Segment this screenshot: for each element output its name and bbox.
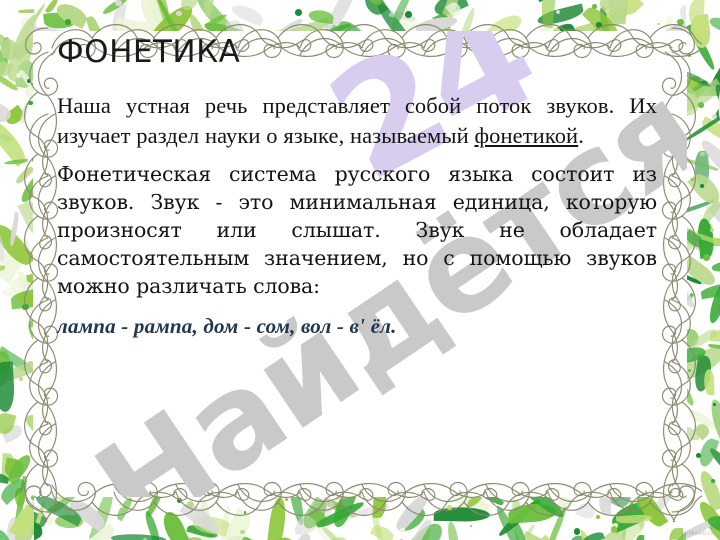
leaf-dot <box>295 9 302 16</box>
leaf-shape <box>689 14 712 49</box>
leaf-border-left <box>0 0 34 540</box>
leaf-shape <box>686 381 696 406</box>
leaf-dot <box>470 525 472 527</box>
paragraph-definition-after: . <box>578 123 584 148</box>
paragraph-definition: Наша устная речь представляет собой пото… <box>57 91 657 150</box>
leaf-shape <box>372 496 387 518</box>
leaf-dot <box>710 228 714 232</box>
leaf-dot <box>677 19 684 26</box>
leaf-dot <box>447 505 452 510</box>
examples-line: лампа - рампа, дом - сом, вол - в' ёл. <box>57 313 657 340</box>
leaf-dot <box>574 528 580 534</box>
leaf-dot <box>115 0 121 6</box>
leaf-dot <box>65 19 71 25</box>
leaf-shape <box>19 103 30 125</box>
leaf-dot <box>400 528 405 533</box>
leaf-border-bottom <box>0 496 720 540</box>
leaf-shape <box>704 369 715 395</box>
leaf-dot <box>712 114 717 119</box>
leaf-border-top <box>0 0 720 32</box>
leaf-shape <box>17 198 34 241</box>
leaf-border-right <box>686 0 720 540</box>
presentation-slide: Найдётся 24 <box>0 0 720 540</box>
leaf-shape <box>711 259 720 273</box>
leaf-dot <box>176 11 181 16</box>
leaf-shape <box>369 523 395 540</box>
leaf-shape <box>575 501 597 521</box>
leaf-dot <box>187 501 194 508</box>
leaf-dot <box>27 79 31 83</box>
term-fonetika: фонетикой <box>474 123 578 148</box>
leaf-dot <box>119 503 123 507</box>
leaf-shape <box>18 8 34 13</box>
leaf-dot <box>592 4 597 9</box>
leaf-shape <box>480 10 525 32</box>
leaf-dot <box>19 377 23 381</box>
leaf-dot <box>28 101 32 105</box>
leaf-shape <box>86 15 111 32</box>
leaf-dot <box>22 304 28 310</box>
leaf-dot <box>177 498 182 503</box>
micro-credit-text: ppt4web.ru <box>681 531 714 537</box>
leaf-dot <box>688 54 691 57</box>
leaf-dot <box>657 23 659 25</box>
leaf-dot <box>696 453 701 458</box>
leaf-dot <box>4 58 7 61</box>
leaf-dot <box>405 11 412 18</box>
leaf-dot <box>556 10 560 14</box>
slide-content: ФОНЕТИКА Наша устная речь представляет с… <box>57 36 657 341</box>
leaf-shape <box>114 496 134 522</box>
page-title: ФОНЕТИКА <box>57 36 657 69</box>
leaf-shape <box>0 362 15 413</box>
leaf-dot <box>703 254 710 261</box>
leaf-shape <box>615 513 651 524</box>
leaf-shape <box>686 255 719 289</box>
leaf-shape <box>635 535 644 540</box>
leaf-dot <box>700 184 704 188</box>
leaf-shape <box>446 520 461 540</box>
leaf-dot <box>698 102 704 108</box>
leaf-dot <box>209 534 212 537</box>
leaf-shape <box>265 496 287 540</box>
paragraph-sound-system: Фонетическая система русского языка сост… <box>57 160 657 300</box>
leaf-dot <box>713 403 716 406</box>
leaf-dot <box>611 526 618 533</box>
leaf-dot <box>596 515 601 520</box>
leaf-shape <box>598 496 611 514</box>
leaf-dot <box>285 498 288 501</box>
leaf-dot <box>690 293 693 296</box>
